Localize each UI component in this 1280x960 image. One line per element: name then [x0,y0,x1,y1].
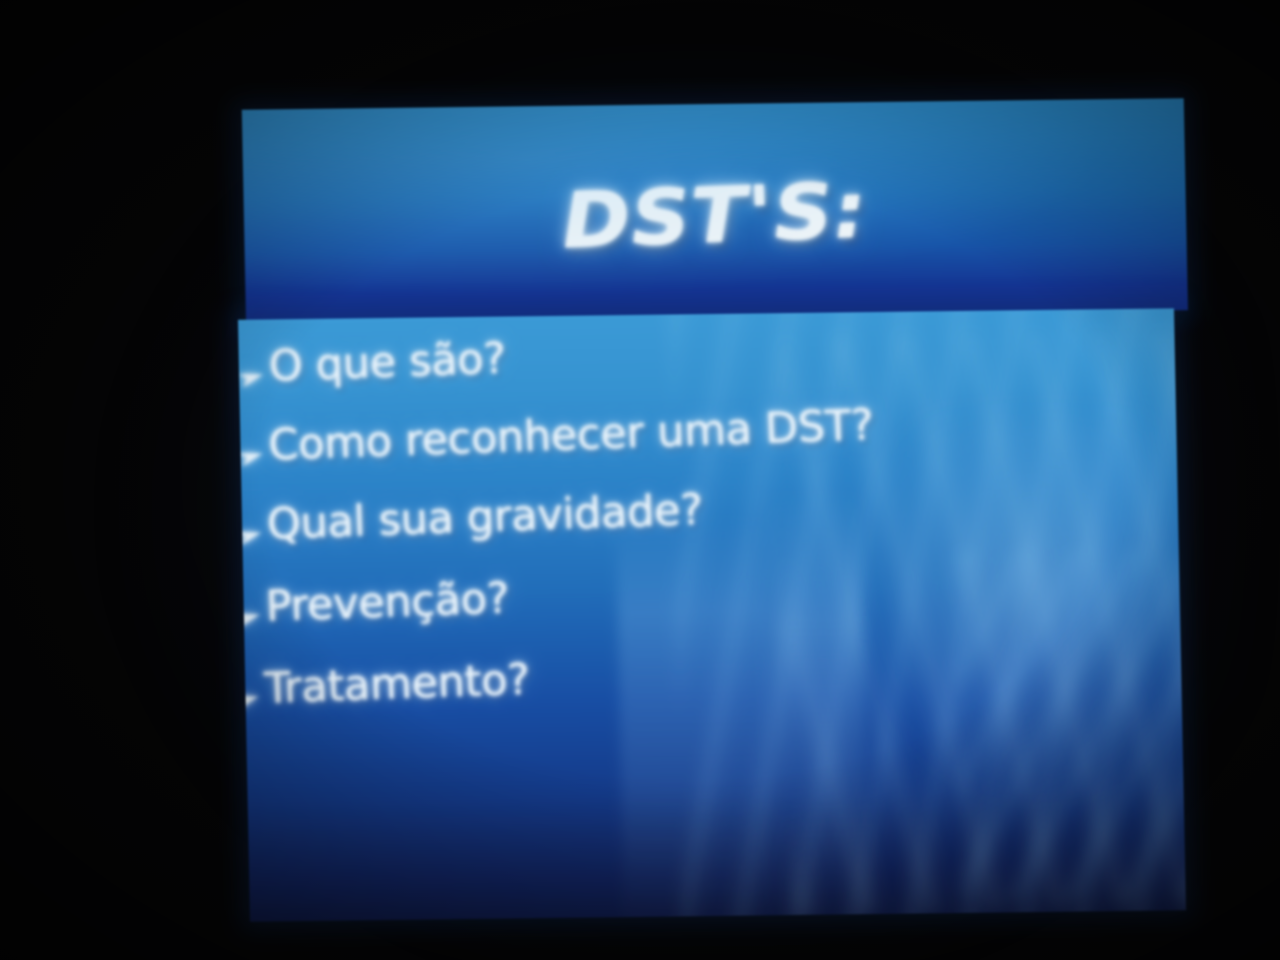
bullet-text: O que são? [268,337,507,390]
bullet-text: Tratamento? [263,658,530,712]
list-item: ➤ Como reconhecer uma DST? [238,403,874,470]
slide-title-band: DST'S: [242,98,1188,321]
list-item: ➤ Qual sua gravidade? [238,488,704,549]
list-item: ➤ O que são? [238,337,507,391]
list-item: ➤ Tratamento? [238,658,531,713]
bullet-text: Como reconhecer uma DST? [268,403,875,469]
slide-title-row: DST'S: [243,161,1188,272]
ripple-texture-streaks [668,308,1186,921]
slide-title: DST'S: [561,173,869,261]
list-item: ➤ Prevenção? [238,577,510,631]
bullet-text: Qual sua gravidade? [266,488,704,548]
ripple-texture-highlight [858,417,1184,794]
slide-body-panel: ➤ O que são? ➤ Como reconhecer uma DST? … [238,308,1186,921]
presentation-slide: DST'S: ➤ O que são? ➤ Como reconhecer um… [234,98,1200,921]
ripple-texture-column-2 [766,493,868,922]
ripple-texture-streaks-3 [954,549,1186,901]
projection-photo: DST'S: ➤ O que são? ➤ Como reconhecer um… [0,0,1280,960]
ripple-texture-column-1 [616,518,774,922]
bullet-text: Prevenção? [265,577,510,630]
